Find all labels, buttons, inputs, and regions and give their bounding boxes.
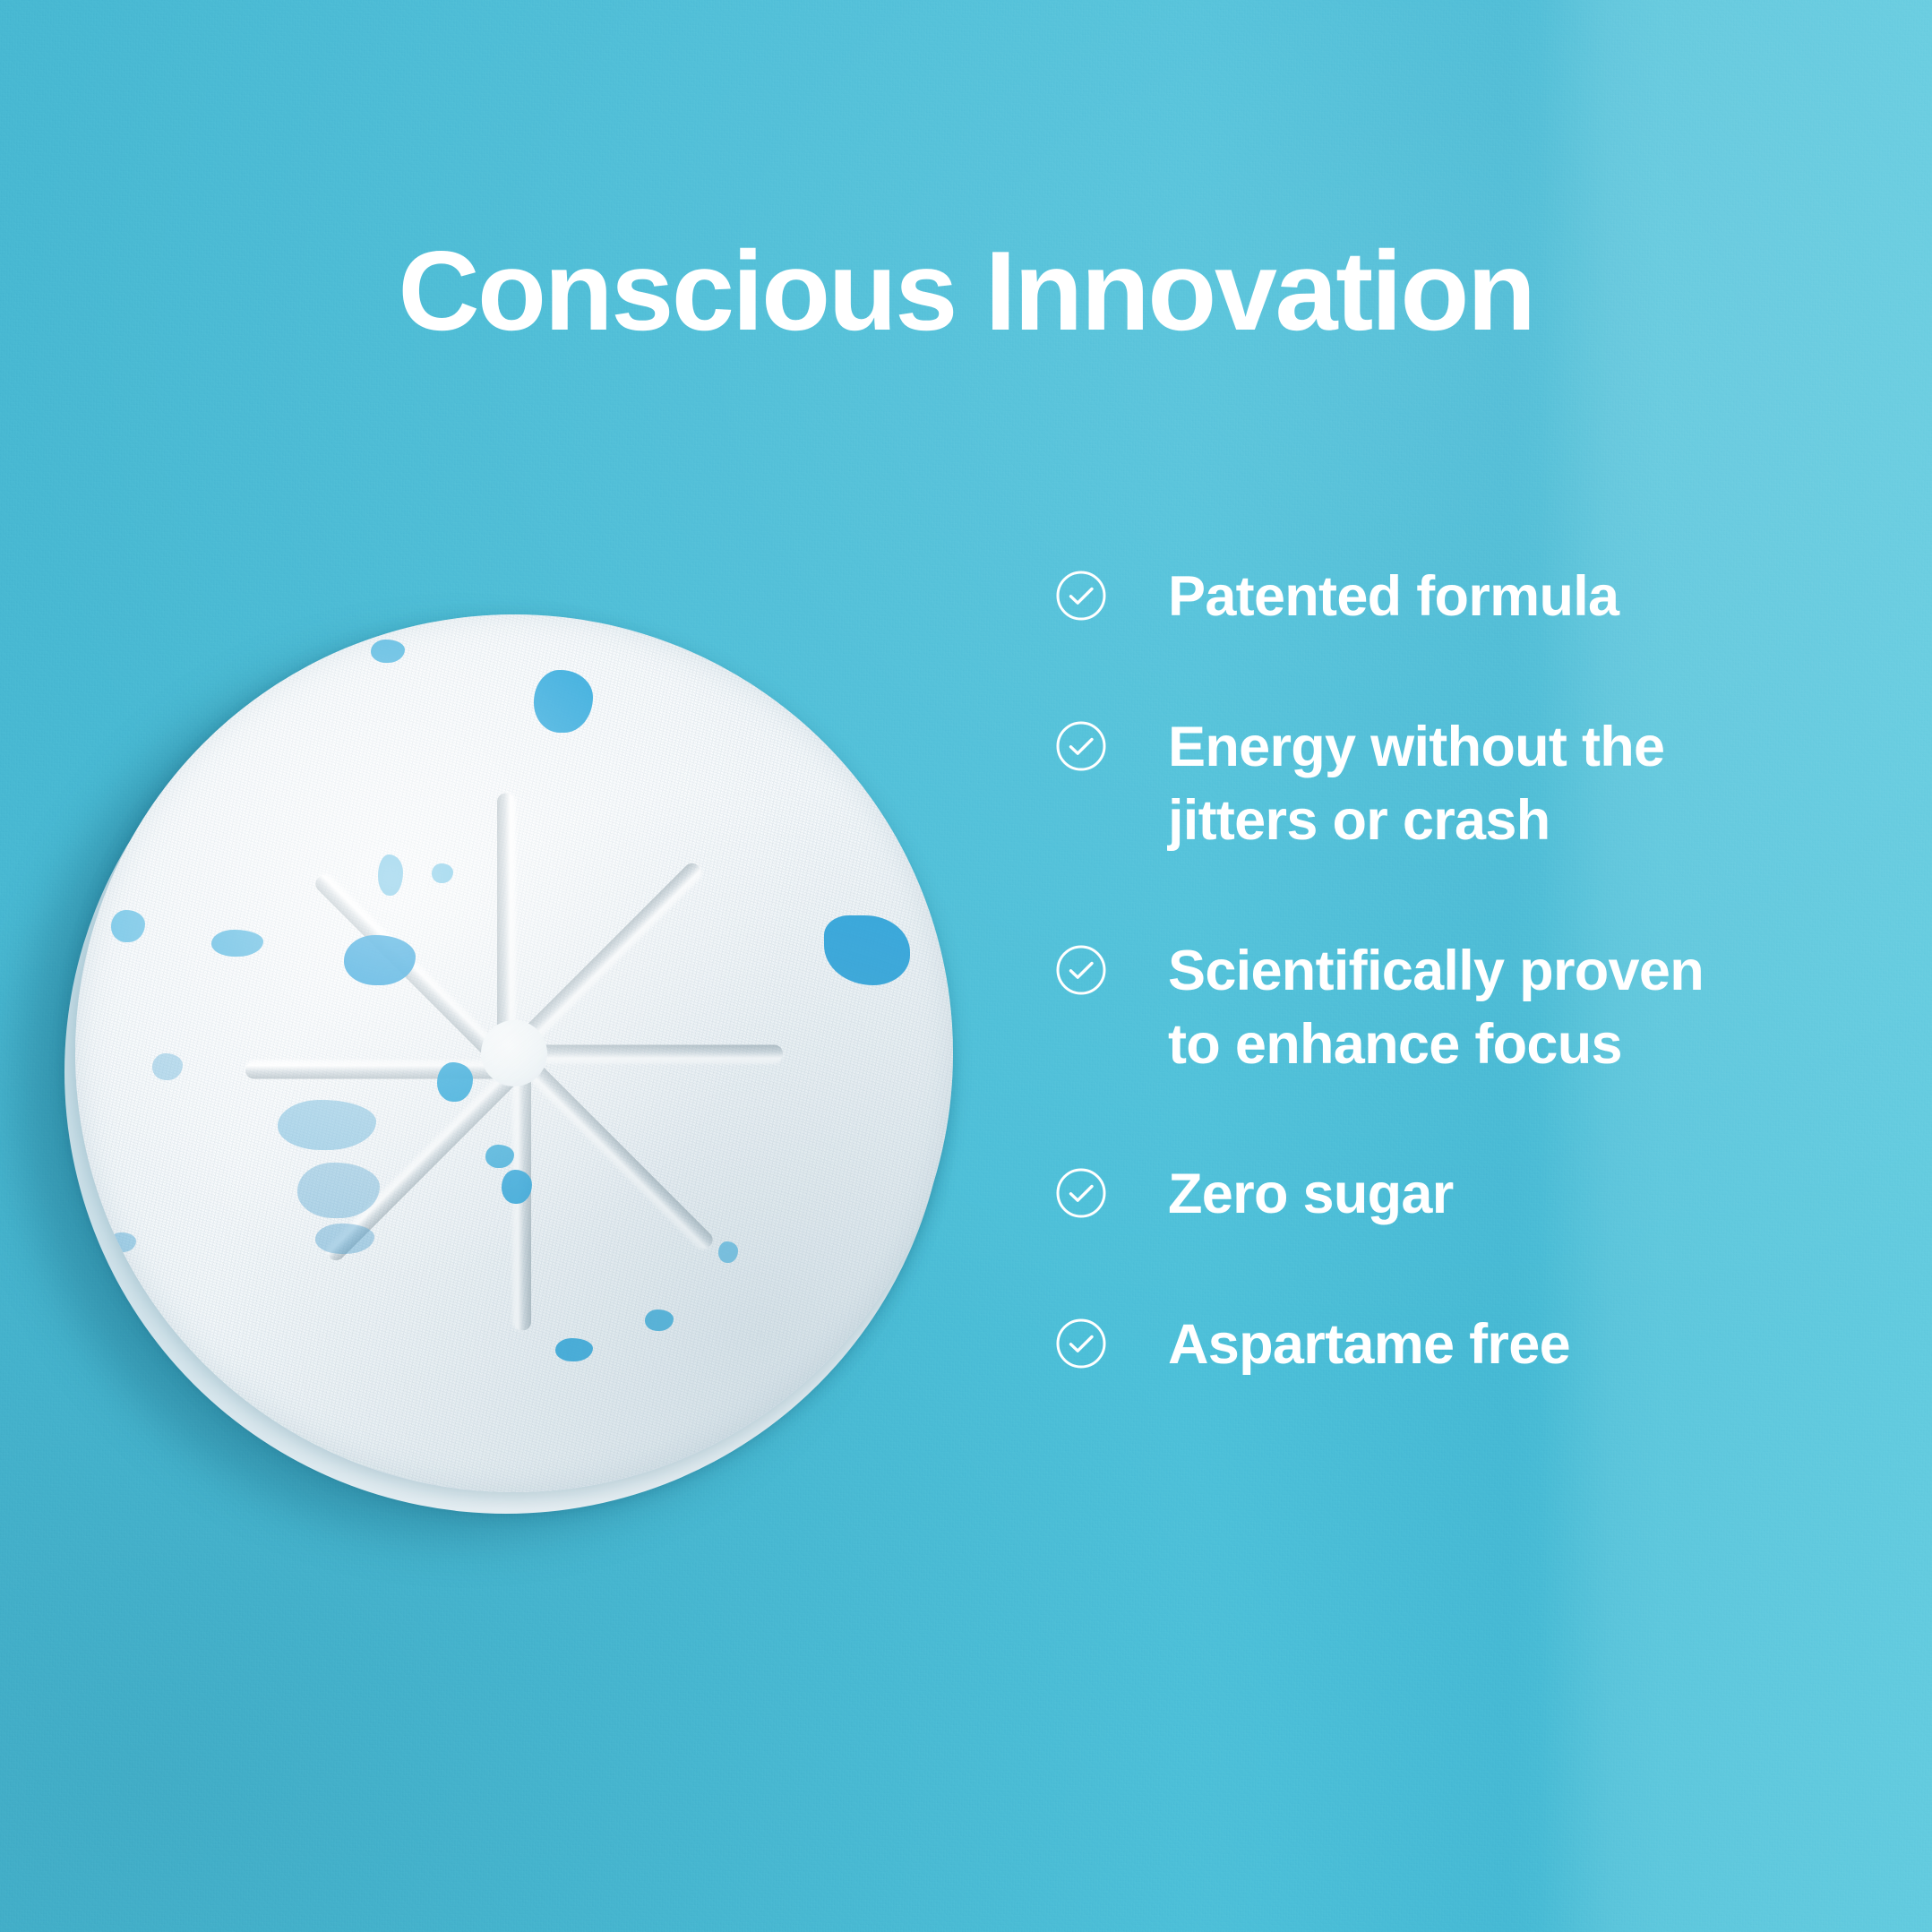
list-item: Patented formula [1055, 561, 1861, 634]
product-tablet-image [54, 591, 967, 1541]
check-circle-icon [1055, 720, 1107, 772]
list-item: Zero sugar [1055, 1158, 1861, 1232]
check-circle-icon [1055, 944, 1107, 996]
product-benefits-graphic: Conscious Innovation [0, 0, 1932, 1932]
check-circle-icon [1055, 1167, 1107, 1219]
benefits-list: Patented formula Energy without the jitt… [1055, 561, 1861, 1382]
check-circle-icon [1055, 570, 1107, 622]
list-item-label: Aspartame free [1168, 1309, 1570, 1382]
list-item-label: Zero sugar [1168, 1158, 1454, 1232]
list-item-label: Scientifically proven to enhance focus [1168, 935, 1704, 1082]
tablet-face [75, 614, 953, 1492]
page-title: Conscious Innovation [0, 235, 1932, 348]
list-item: Energy without the jitters or crash [1055, 711, 1861, 858]
list-item-label: Patented formula [1168, 561, 1619, 634]
list-item: Scientifically proven to enhance focus [1055, 935, 1861, 1082]
tablet-face-shading [75, 614, 953, 1492]
list-item: Aspartame free [1055, 1309, 1861, 1382]
check-circle-icon [1055, 1318, 1107, 1370]
list-item-label: Energy without the jitters or crash [1168, 711, 1664, 858]
